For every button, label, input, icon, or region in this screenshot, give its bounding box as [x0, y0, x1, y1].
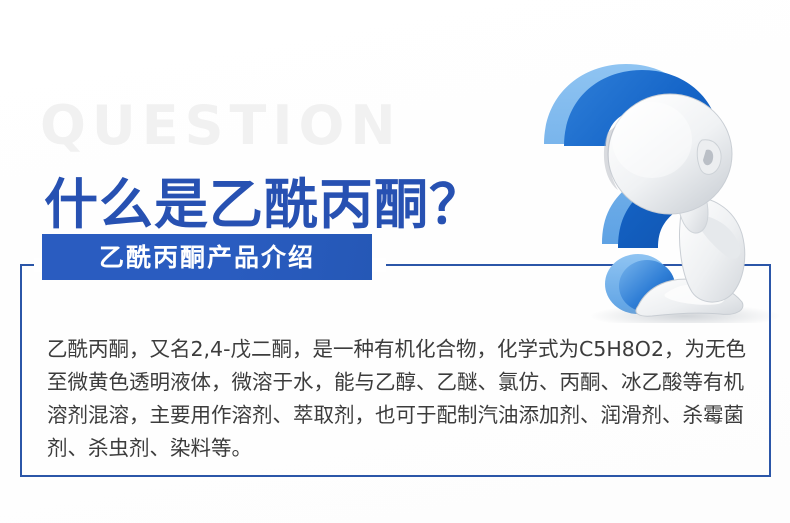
section-banner: 乙酰丙酮产品介绍: [42, 234, 372, 280]
section-banner-label: 乙酰丙酮产品介绍: [99, 245, 315, 270]
watermark-question-text: QUESTION: [40, 99, 402, 153]
poster-container: QUESTION 什么是乙酰丙酮？ 乙酰丙酮产品介绍 乙酰丙酮，又名2,4-戊二…: [0, 0, 790, 523]
page-title: 什么是乙酰丙酮？: [44, 177, 484, 234]
product-description-paragraph: 乙酰丙酮，又名2,4-戊二酮，是一种有机化合物，化学式为C5H8O2，为无色至微…: [47, 333, 747, 465]
